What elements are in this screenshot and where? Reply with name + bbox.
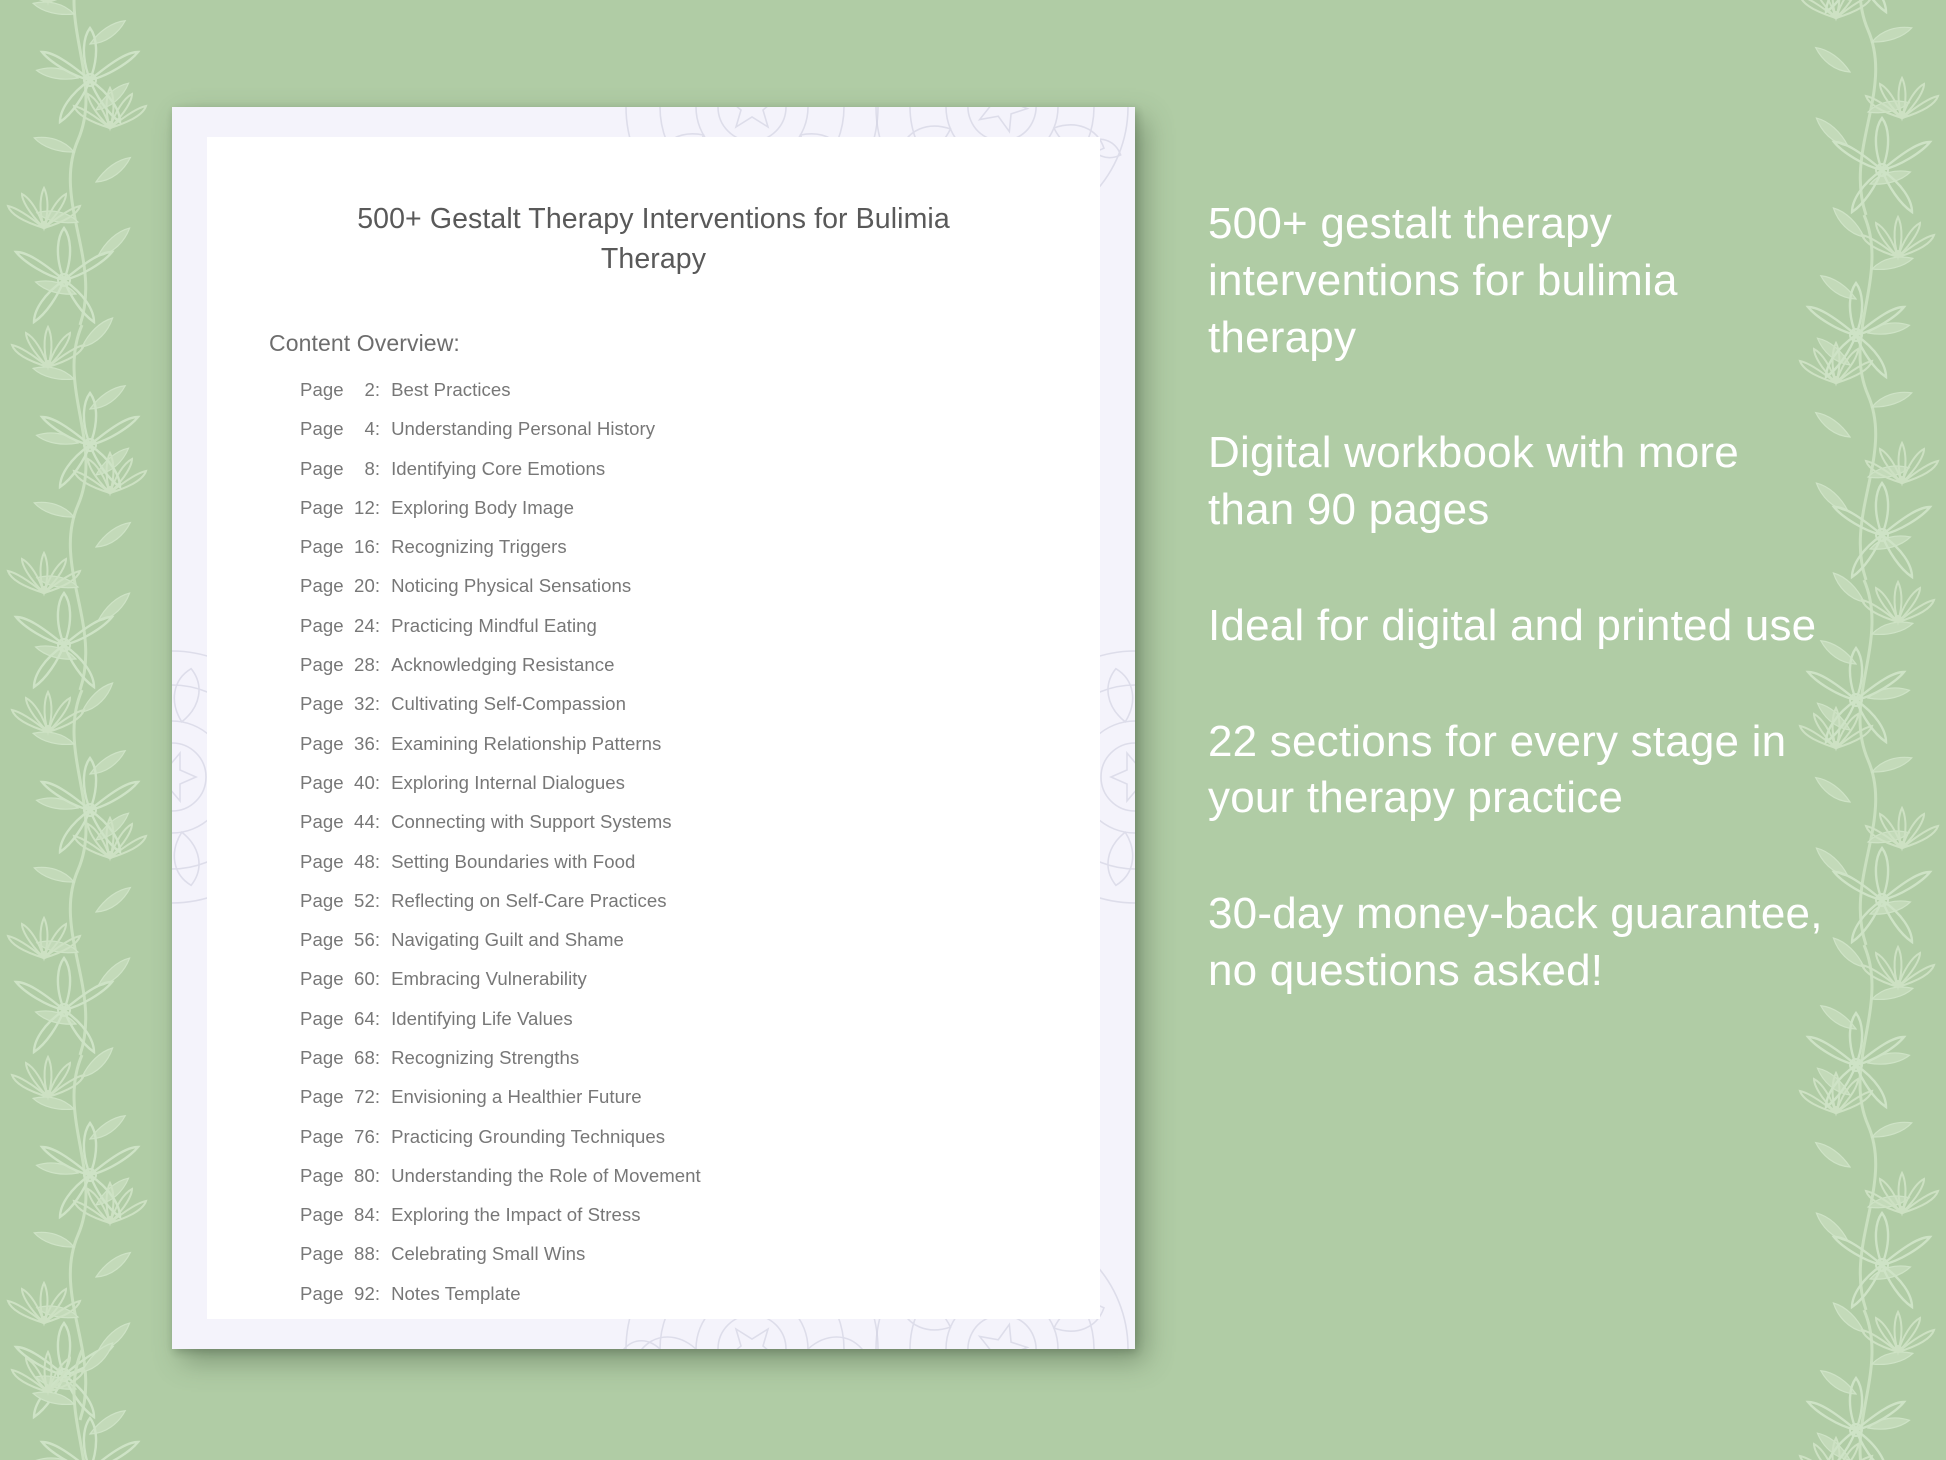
toc-entry-title: Notes Template <box>391 1285 521 1304</box>
marketing-line: 500+ gestalt therapy interventions for b… <box>1208 196 1828 366</box>
toc-page-number: 60 <box>349 970 375 989</box>
toc-row: Page 80:Understanding the Role of Moveme… <box>300 1167 1100 1206</box>
toc-page-word: Page <box>300 381 349 400</box>
toc-row: Page 12:Exploring Body Image <box>300 499 1100 538</box>
toc-page-number: 32 <box>349 695 375 714</box>
toc-page-number: 16 <box>349 538 375 557</box>
toc-row: Page 20:Noticing Physical Sensations <box>300 577 1100 616</box>
toc-row: Page 72:Envisioning a Healthier Future <box>300 1088 1100 1127</box>
toc-page-word: Page <box>300 499 349 518</box>
toc-entry-title: Exploring Body Image <box>391 499 574 518</box>
toc-page-number: 68 <box>349 1049 375 1068</box>
toc-page-number: 40 <box>349 774 375 793</box>
toc-page-number: 84 <box>349 1206 375 1225</box>
toc-row: Page 60:Embracing Vulnerability <box>300 970 1100 1009</box>
toc-colon: : <box>375 1049 380 1068</box>
toc-entry-title: Cultivating Self-Compassion <box>391 695 626 714</box>
toc-row: Page 8:Identifying Core Emotions <box>300 460 1100 499</box>
marketing-column: 500+ gestalt therapy interventions for b… <box>1208 196 1828 1000</box>
toc-colon: : <box>375 853 380 872</box>
toc-colon: : <box>375 460 380 479</box>
toc-page-number: 72 <box>349 1088 375 1107</box>
toc-page-word: Page <box>300 853 349 872</box>
toc-entry-title: Identifying Life Values <box>391 1010 573 1029</box>
toc-entry-title: Exploring Internal Dialogues <box>391 774 625 793</box>
toc-page-number: 8 <box>349 460 375 479</box>
toc-page-word: Page <box>300 892 349 911</box>
toc-entry-title: Embracing Vulnerability <box>391 970 587 989</box>
toc-entry-title: Identifying Core Emotions <box>391 460 605 479</box>
toc-page-word: Page <box>300 813 349 832</box>
toc-colon: : <box>375 1010 380 1029</box>
toc-colon: : <box>375 1167 380 1186</box>
toc-page-number: 20 <box>349 577 375 596</box>
toc-row: Page 68:Recognizing Strengths <box>300 1049 1100 1088</box>
toc-row: Page 16:Recognizing Triggers <box>300 538 1100 577</box>
toc-entry-title: Noticing Physical Sensations <box>391 577 631 596</box>
toc-page-word: Page <box>300 970 349 989</box>
toc-colon: : <box>375 970 380 989</box>
workbook-page-sheet: 500+ Gestalt Therapy Interventions for B… <box>207 137 1100 1319</box>
toc-colon: : <box>375 735 380 754</box>
toc-page-word: Page <box>300 735 349 754</box>
toc-page-word: Page <box>300 617 349 636</box>
toc-row: Page 88:Celebrating Small Wins <box>300 1245 1100 1284</box>
toc-page-number: 76 <box>349 1128 375 1147</box>
toc-row: Page 52:Reflecting on Self-Care Practice… <box>300 892 1100 931</box>
marketing-line: 30-day money-back guarantee, no question… <box>1208 886 1828 1000</box>
toc-entry-title: Connecting with Support Systems <box>391 813 672 832</box>
toc-page-word: Page <box>300 1049 349 1068</box>
toc-entry-title: Recognizing Triggers <box>391 538 567 557</box>
toc-colon: : <box>375 1245 380 1264</box>
toc-page-word: Page <box>300 931 349 950</box>
toc-row: Page 28:Acknowledging Resistance <box>300 656 1100 695</box>
toc-page-word: Page <box>300 460 349 479</box>
toc-entry-title: Envisioning a Healthier Future <box>391 1088 642 1107</box>
toc-colon: : <box>375 892 380 911</box>
toc-page-word: Page <box>300 1285 349 1304</box>
toc-entry-title: Understanding the Role of Movement <box>391 1167 701 1186</box>
toc-colon: : <box>375 695 380 714</box>
toc-row: Page 40:Exploring Internal Dialogues <box>300 774 1100 813</box>
toc-page-number: 92 <box>349 1285 375 1304</box>
toc-row: Page 2:Best Practices <box>300 381 1100 420</box>
toc-colon: : <box>375 656 380 675</box>
toc-page-number: 52 <box>349 892 375 911</box>
toc-page-number: 56 <box>349 931 375 950</box>
toc-row: Page 4:Understanding Personal History <box>300 420 1100 459</box>
toc-colon: : <box>375 617 380 636</box>
toc-page-word: Page <box>300 695 349 714</box>
toc-entry-title: Practicing Grounding Techniques <box>391 1128 665 1147</box>
toc-page-word: Page <box>300 577 349 596</box>
toc-page-number: 80 <box>349 1167 375 1186</box>
toc-row: Page 84:Exploring the Impact of Stress <box>300 1206 1100 1245</box>
toc-row: Page 44:Connecting with Support Systems <box>300 813 1100 852</box>
toc-row: Page 64:Identifying Life Values <box>300 1010 1100 1049</box>
toc-page-word: Page <box>300 1167 349 1186</box>
toc-colon: : <box>375 1285 380 1304</box>
marketing-line: Ideal for digital and printed use <box>1208 598 1828 655</box>
toc-entry-title: Understanding Personal History <box>391 420 655 439</box>
toc-entry-title: Acknowledging Resistance <box>391 656 614 675</box>
toc-entry-title: Practicing Mindful Eating <box>391 617 597 636</box>
toc-row: Page 92:Notes Template <box>300 1285 1100 1324</box>
toc-entry-title: Reflecting on Self-Care Practices <box>391 892 667 911</box>
toc-page-word: Page <box>300 1206 349 1225</box>
toc-colon: : <box>375 931 380 950</box>
toc-page-word: Page <box>300 774 349 793</box>
toc-entry-title: Exploring the Impact of Stress <box>391 1206 641 1225</box>
toc-colon: : <box>375 774 380 793</box>
toc-row: Page 56:Navigating Guilt and Shame <box>300 931 1100 970</box>
toc-colon: : <box>375 1206 380 1225</box>
toc-row: Page 48:Setting Boundaries with Food <box>300 853 1100 892</box>
toc-colon: : <box>375 538 380 557</box>
toc-page-word: Page <box>300 538 349 557</box>
toc-entry-title: Navigating Guilt and Shame <box>391 931 624 950</box>
toc-page-number: 44 <box>349 813 375 832</box>
toc-page-number: 64 <box>349 1010 375 1029</box>
toc-page-number: 48 <box>349 853 375 872</box>
toc-entry-title: Examining Relationship Patterns <box>391 735 661 754</box>
toc-page-number: 2 <box>349 381 375 400</box>
toc-row: Page 76:Practicing Grounding Techniques <box>300 1128 1100 1167</box>
marketing-line: 22 sections for every stage in your ther… <box>1208 714 1828 828</box>
page-title: 500+ Gestalt Therapy Interventions for B… <box>334 199 974 280</box>
marketing-line: Digital workbook with more than 90 pages <box>1208 425 1828 539</box>
toc-colon: : <box>375 381 380 400</box>
toc-entry-title: Recognizing Strengths <box>391 1049 579 1068</box>
toc-colon: : <box>375 420 380 439</box>
toc-page-number: 36 <box>349 735 375 754</box>
toc-row: Page 36:Examining Relationship Patterns <box>300 735 1100 774</box>
toc-page-number: 24 <box>349 617 375 636</box>
toc-entry-title: Setting Boundaries with Food <box>391 853 635 872</box>
toc-colon: : <box>375 1128 380 1147</box>
toc-page-word: Page <box>300 1128 349 1147</box>
toc-page-word: Page <box>300 1245 349 1264</box>
toc-colon: : <box>375 577 380 596</box>
toc-page-number: 4 <box>349 420 375 439</box>
toc-page-number: 28 <box>349 656 375 675</box>
toc-colon: : <box>375 813 380 832</box>
toc-entry-title: Celebrating Small Wins <box>391 1245 585 1264</box>
table-of-contents-list: Page 2:Best PracticesPage 4:Understandin… <box>300 381 1100 1324</box>
toc-colon: : <box>375 1088 380 1107</box>
product-card: 500+ Gestalt Therapy Interventions for B… <box>172 107 1135 1349</box>
toc-page-word: Page <box>300 1088 349 1107</box>
toc-page-word: Page <box>300 1010 349 1029</box>
toc-page-word: Page <box>300 656 349 675</box>
toc-page-number: 88 <box>349 1245 375 1264</box>
content-overview-heading: Content Overview: <box>269 330 1100 357</box>
toc-page-number: 12 <box>349 499 375 518</box>
toc-row: Page 32:Cultivating Self-Compassion <box>300 695 1100 734</box>
toc-row: Page 24:Practicing Mindful Eating <box>300 617 1100 656</box>
toc-page-word: Page <box>300 420 349 439</box>
toc-entry-title: Best Practices <box>391 381 511 400</box>
toc-colon: : <box>375 499 380 518</box>
